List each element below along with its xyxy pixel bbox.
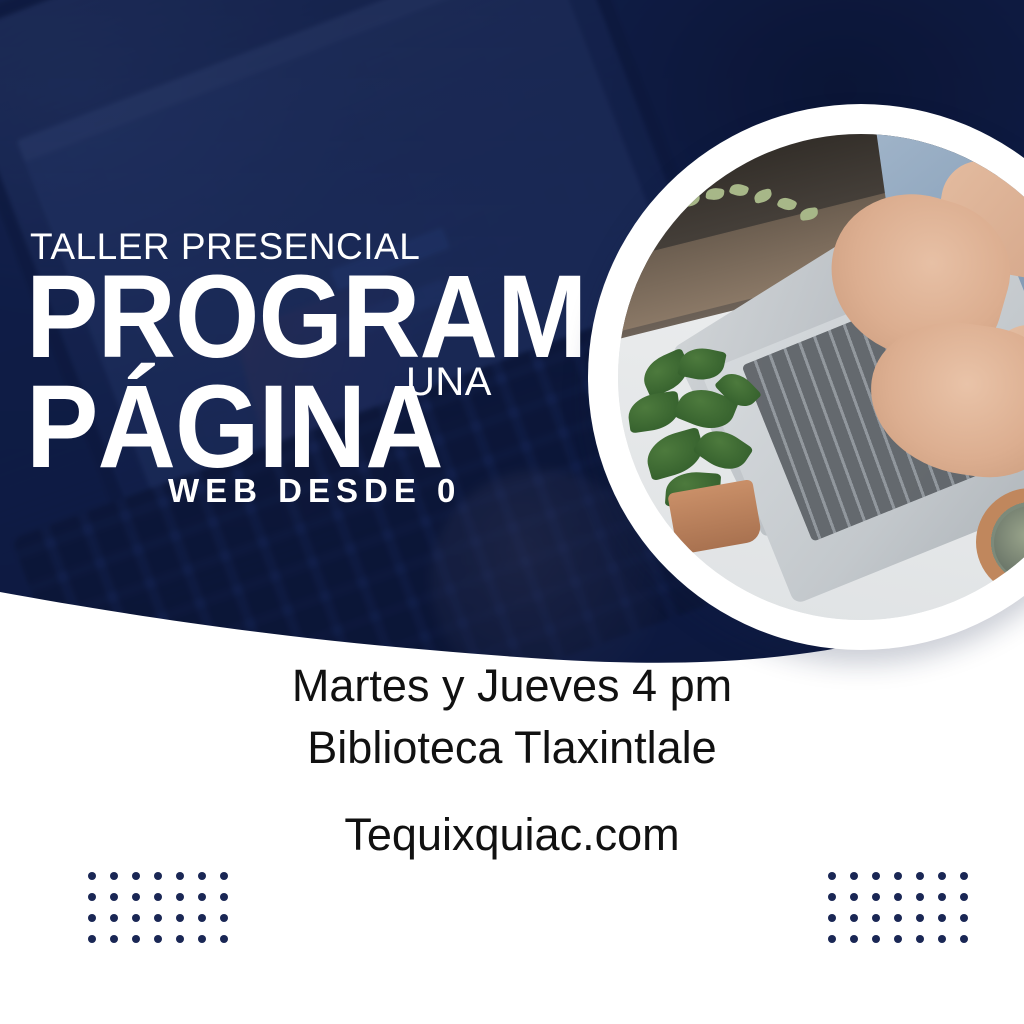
- decorative-dot: [850, 872, 858, 880]
- decorative-dot: [894, 893, 902, 901]
- decorative-dot: [88, 914, 96, 922]
- headline-line-2: PÁGINA: [26, 368, 443, 486]
- decorative-dot: [132, 935, 140, 943]
- decorative-dot: [960, 872, 968, 880]
- decorative-dot: [110, 872, 118, 880]
- decorative-dot: [872, 872, 880, 880]
- decorative-dot: [220, 872, 228, 880]
- decorative-dot: [850, 893, 858, 901]
- decorative-dot: [198, 935, 206, 943]
- dot-grid-left: [88, 872, 228, 943]
- decorative-dot: [960, 935, 968, 943]
- decorative-dot: [938, 914, 946, 922]
- dot-grid-right: [828, 872, 968, 943]
- decorative-dot: [872, 893, 880, 901]
- decorative-dot: [154, 872, 162, 880]
- decorative-dot: [850, 914, 858, 922]
- decorative-dot: [916, 872, 924, 880]
- decorative-dot: [828, 893, 836, 901]
- headline-line-1: PROGRAMA: [26, 258, 664, 376]
- decorative-dot: [132, 872, 140, 880]
- decorative-dot: [894, 872, 902, 880]
- decorative-dot: [88, 872, 96, 880]
- decorative-dot: [154, 935, 162, 943]
- decorative-dot: [828, 935, 836, 943]
- decorative-dot: [960, 914, 968, 922]
- decorative-dot: [960, 893, 968, 901]
- decorative-dot: [154, 914, 162, 922]
- decorative-dot: [894, 935, 902, 943]
- decorative-dot: [176, 872, 184, 880]
- decorative-dot: [850, 935, 858, 943]
- poster-canvas: TALLER PRESENCIAL PROGRAMA UNA PÁGINA WE…: [0, 0, 1024, 1024]
- decorative-dot: [132, 893, 140, 901]
- decorative-dot: [938, 872, 946, 880]
- decorative-dot: [198, 893, 206, 901]
- decorative-dot: [176, 914, 184, 922]
- event-venue: Biblioteca Tlaxintlale: [0, 720, 1024, 776]
- decorative-dot: [828, 914, 836, 922]
- decorative-dot: [110, 914, 118, 922]
- headline-subline: WEB DESDE 0: [168, 474, 461, 507]
- decorative-dot: [110, 893, 118, 901]
- decorative-dot: [132, 914, 140, 922]
- decorative-dot: [88, 893, 96, 901]
- decorative-dot: [916, 914, 924, 922]
- decorative-dot: [220, 893, 228, 901]
- event-schedule: Martes y Jueves 4 pm: [0, 658, 1024, 714]
- decorative-dot: [916, 935, 924, 943]
- decorative-dot: [938, 893, 946, 901]
- decorative-dot: [198, 914, 206, 922]
- decorative-dot: [938, 935, 946, 943]
- decorative-dot: [176, 893, 184, 901]
- decorative-dot: [220, 935, 228, 943]
- decorative-dot: [872, 914, 880, 922]
- event-details: Martes y Jueves 4 pm Biblioteca Tlaxintl…: [0, 650, 1024, 863]
- decorative-dot: [176, 935, 184, 943]
- decorative-dot: [198, 872, 206, 880]
- decorative-dot: [872, 935, 880, 943]
- decorative-dot: [894, 914, 902, 922]
- event-website[interactable]: Tequixquiac.com: [0, 807, 1024, 863]
- decorative-dot: [916, 893, 924, 901]
- photo-dried-sprig: [660, 180, 840, 260]
- decorative-dot: [88, 935, 96, 943]
- decorative-dot: [220, 914, 228, 922]
- circular-photo-frame: [588, 104, 1024, 650]
- decorative-dot: [828, 872, 836, 880]
- photo-tea-cup-liquid: [994, 506, 1024, 580]
- decorative-dot: [110, 935, 118, 943]
- circular-photo-hands-typing: [618, 134, 1024, 620]
- decorative-dot: [154, 893, 162, 901]
